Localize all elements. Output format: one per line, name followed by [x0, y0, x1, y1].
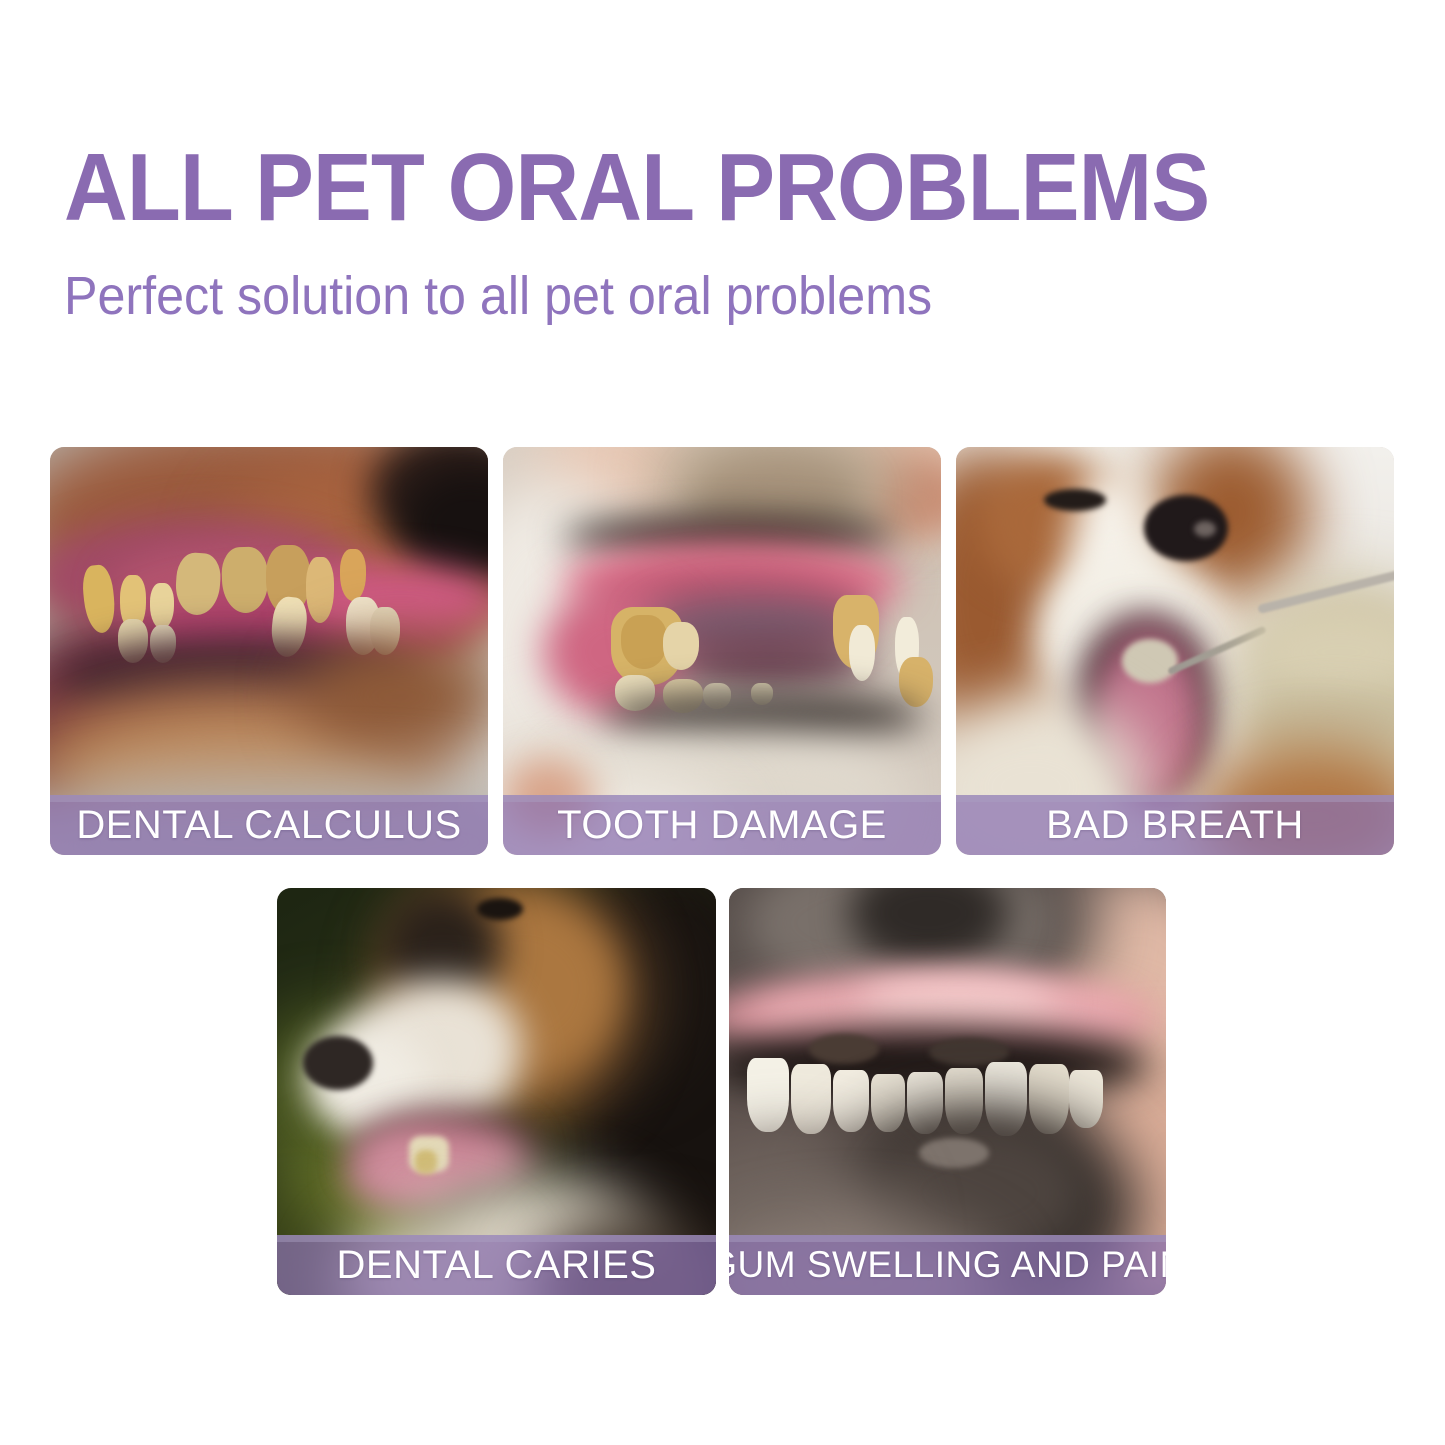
card-label-band-gum-swelling-and-pain: GUM SWELLING AND PAIN	[729, 1235, 1166, 1295]
card-dental-calculus[interactable]: DENTAL CALCULUS	[50, 447, 488, 855]
card-dental-caries[interactable]: DENTAL CARIES	[277, 888, 716, 1295]
card-image-dental-caries	[277, 888, 716, 1295]
card-label-bad-breath: BAD BREATH	[1046, 803, 1304, 847]
card-gum-swelling-and-pain[interactable]: GUM SWELLING AND PAIN	[729, 888, 1166, 1295]
band-highlight	[729, 1235, 1166, 1242]
card-label-gum-swelling-and-pain: GUM SWELLING AND PAIN	[729, 1243, 1166, 1287]
band-highlight	[956, 795, 1394, 802]
card-label-band-tooth-damage: TOOTH DAMAGE	[503, 795, 941, 855]
card-image-gum-swelling-and-pain	[729, 888, 1166, 1295]
band-highlight	[50, 795, 488, 802]
header: ALL PET ORAL PROBLEMS Perfect solution t…	[64, 140, 1384, 324]
page-title: ALL PET ORAL PROBLEMS	[64, 140, 1278, 236]
card-tooth-damage[interactable]: TOOTH DAMAGE	[503, 447, 941, 855]
band-highlight	[503, 795, 941, 802]
band-highlight	[277, 1235, 716, 1242]
poster-root: ALL PET ORAL PROBLEMS Perfect solution t…	[0, 0, 1445, 1445]
card-label-band-dental-calculus: DENTAL CALCULUS	[50, 795, 488, 855]
card-image-tooth-damage	[503, 447, 941, 855]
card-label-dental-caries: DENTAL CARIES	[337, 1243, 657, 1287]
card-image-dental-calculus	[50, 447, 488, 855]
card-label-tooth-damage: TOOTH DAMAGE	[557, 803, 887, 847]
card-label-dental-calculus: DENTAL CALCULUS	[76, 803, 461, 847]
card-bad-breath[interactable]: BAD BREATH	[956, 447, 1394, 855]
page-subtitle: Perfect solution to all pet oral problem…	[64, 236, 1292, 324]
card-label-band-dental-caries: DENTAL CARIES	[277, 1235, 716, 1295]
card-image-bad-breath	[956, 447, 1394, 855]
card-label-band-bad-breath: BAD BREATH	[956, 795, 1394, 855]
